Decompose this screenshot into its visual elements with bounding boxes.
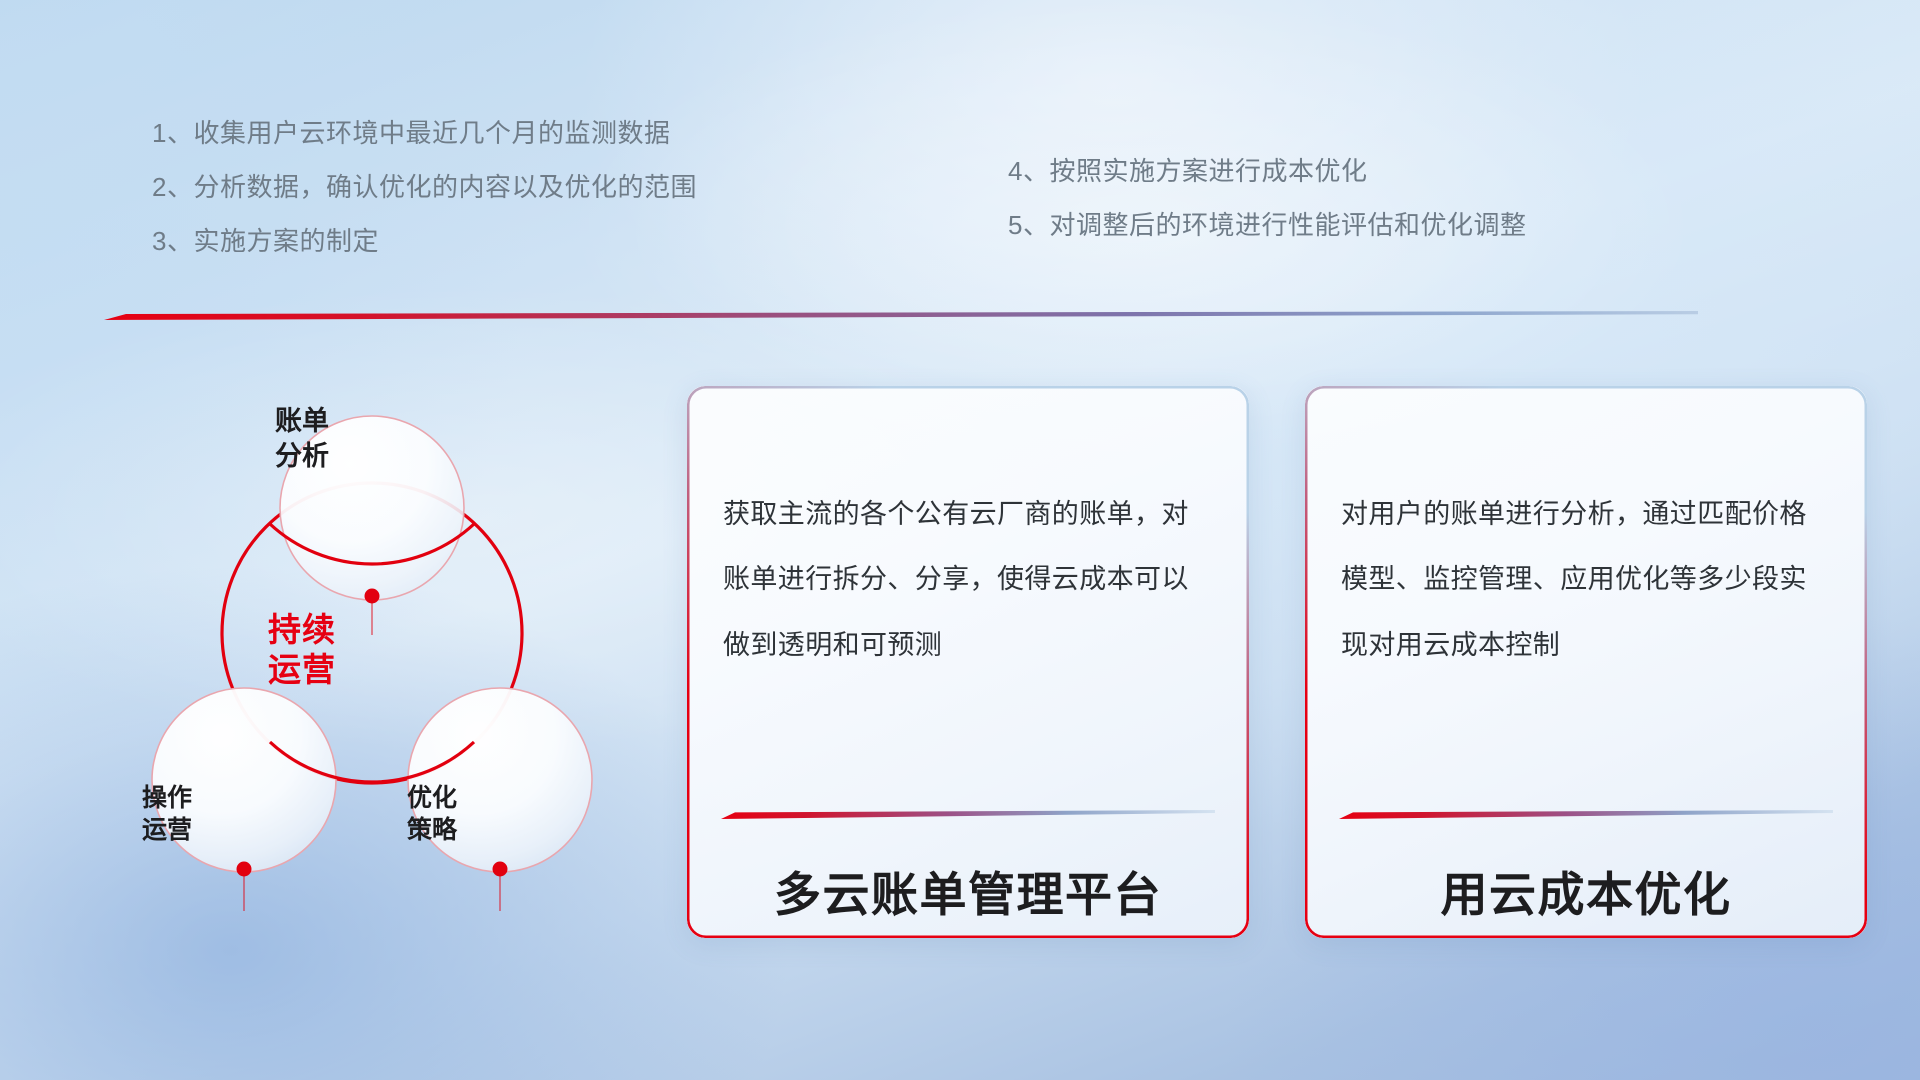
card-rule [1339,810,1833,819]
bubble-top [280,416,464,600]
marker-top [365,589,380,636]
step-item: 4、按照实施方案进行成本优化 [1008,158,1526,184]
section-divider [104,311,1698,320]
card-description: 对用户的账单进行分析，通过匹配价格模型、监控管理、应用优化等多少段实现对用云成本… [1341,482,1831,678]
card-body: 获取主流的各个公有云厂商的账单，对账单进行拆分、分享，使得云成本可以做到透明和可… [687,386,1249,678]
step-item: 3、实施方案的制定 [152,228,697,254]
feature-card[interactable]: 获取主流的各个公有云厂商的账单，对账单进行拆分、分享，使得云成本可以做到透明和可… [687,386,1249,938]
bubble-right [408,688,592,872]
feature-card[interactable]: 对用户的账单进行分析，通过匹配价格模型、监控管理、应用优化等多少段实现对用云成本… [1305,386,1867,938]
step-item: 2、分析数据，确认优化的内容以及优化的范围 [152,174,697,200]
steps-list-left: 1、收集用户云环境中最近几个月的监测数据 2、分析数据，确认优化的内容以及优化的… [152,120,697,254]
card-description: 获取主流的各个公有云厂商的账单，对账单进行拆分、分享，使得云成本可以做到透明和可… [723,482,1213,678]
steps-list-right: 4、按照实施方案进行成本优化 5、对调整后的环境进行性能评估和优化调整 [1008,158,1526,238]
card-title: 用云成本优化 [1305,856,1867,925]
step-item: 1、收集用户云环境中最近几个月的监测数据 [152,120,697,146]
card-rule [721,810,1215,819]
bubble-left [152,688,336,872]
step-item: 5、对调整后的环境进行性能评估和优化调整 [1008,212,1526,238]
marker-right [493,862,508,912]
marker-left [237,862,252,912]
card-title: 多云账单管理平台 [687,856,1249,925]
slide-canvas: 1、收集用户云环境中最近几个月的监测数据 2、分析数据，确认优化的内容以及优化的… [0,0,1920,1080]
venn-diagram [92,345,652,945]
card-body: 对用户的账单进行分析，通过匹配价格模型、监控管理、应用优化等多少段实现对用云成本… [1305,386,1867,678]
